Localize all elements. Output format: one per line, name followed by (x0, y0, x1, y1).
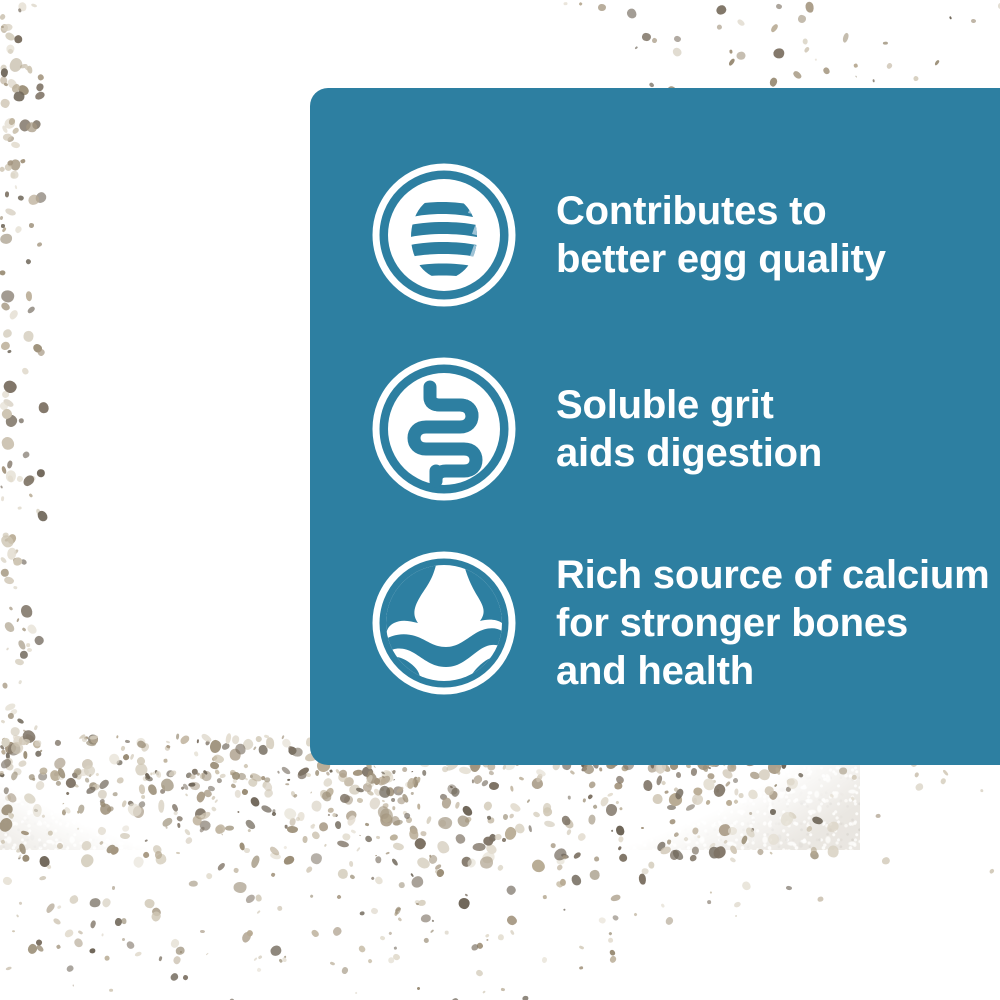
grit-speck (872, 79, 874, 83)
grit-speck (422, 769, 427, 776)
benefit-row-calcium: Rich source of calcium for stronger bone… (310, 526, 1000, 720)
benefit-label-egg-quality: Contributes to better egg quality (556, 187, 886, 283)
grit-speck (4, 192, 9, 198)
grit-speck (244, 892, 257, 904)
grit-speck (310, 853, 322, 864)
grit-speck (664, 915, 674, 925)
grit-speck (310, 791, 312, 793)
grit-speck (411, 791, 414, 794)
grit-speck (72, 984, 74, 986)
grit-speck (158, 956, 162, 961)
grit-speck (309, 894, 313, 898)
grit-speck (252, 957, 257, 962)
grit-speck (394, 906, 402, 915)
grit-speck (79, 852, 96, 869)
grit-speck (421, 914, 432, 924)
grit-speck (104, 955, 110, 961)
grit-speck (16, 915, 19, 919)
grit-speck (530, 857, 547, 874)
grit-speck (286, 826, 297, 833)
grit-speck (112, 885, 116, 889)
product-feature-image: Contributes to better egg quality Solubl… (0, 0, 1000, 1000)
grit-speck (237, 772, 246, 780)
grit-speck (66, 965, 75, 973)
grit-speck (255, 895, 262, 903)
grit-speck (374, 875, 384, 885)
grit-speck (35, 944, 45, 953)
grit-speck (563, 856, 568, 860)
grit-speck (914, 782, 924, 792)
grit-speck (710, 891, 712, 894)
grit-speck (942, 769, 949, 776)
grit-speck (542, 956, 548, 963)
grit-speck (692, 847, 699, 855)
grit-speck (48, 830, 53, 835)
grit-speck (376, 857, 382, 864)
grit-speck (597, 4, 605, 11)
grit-speck (21, 854, 31, 863)
grit-speck (949, 16, 952, 20)
grit-speck (150, 773, 152, 776)
grit-speck (505, 884, 517, 896)
grit-speck (26, 122, 37, 132)
grit-speck (250, 854, 261, 868)
grit-speck (188, 782, 196, 786)
grit-speck (125, 940, 136, 951)
grit-speck (265, 777, 271, 782)
grit-speck (734, 901, 742, 908)
grit-speck (355, 991, 358, 994)
grit-speck (119, 832, 129, 839)
grit-speck (775, 3, 782, 9)
grit-speck (285, 783, 289, 785)
grit-speck (810, 847, 816, 855)
grit-speck (410, 872, 414, 877)
grit-speck (706, 900, 711, 905)
grit-speck (1, 224, 5, 228)
grit-speck (730, 857, 737, 863)
grit-speck (607, 938, 613, 944)
grit-speck (648, 861, 655, 868)
grit-speck (305, 865, 313, 873)
benefit-label-calcium: Rich source of calcium for stronger bone… (556, 551, 990, 695)
grit-speck (735, 914, 738, 917)
grit-speck (256, 910, 260, 914)
grit-speck (639, 874, 647, 886)
grit-speck (182, 974, 188, 981)
grit-speck (611, 894, 622, 902)
grit-speck (90, 920, 97, 929)
grit-speck (498, 933, 504, 939)
grit-speck (336, 894, 342, 900)
grit-speck (101, 933, 103, 936)
grit-speck (688, 854, 697, 863)
grit-speck (570, 873, 583, 887)
grit-speck (349, 861, 354, 868)
grit-speck (475, 968, 484, 976)
grit-speck (693, 787, 702, 795)
grit-speck (594, 856, 600, 862)
grit-speck (912, 75, 919, 82)
grit-speck (378, 785, 390, 798)
bone-joint-icon (368, 547, 520, 699)
grit-speck (189, 881, 198, 887)
grit-speck (598, 917, 606, 925)
grit-speck (23, 331, 34, 342)
grit-speck (641, 32, 651, 41)
grit-speck (89, 897, 101, 908)
grit-speck (77, 810, 79, 813)
grit-speck (310, 929, 320, 939)
grit-speck (652, 794, 663, 805)
grit-speck (391, 858, 399, 867)
grit-speck (397, 917, 402, 922)
grit-speck (367, 958, 373, 964)
grit-speck (205, 871, 213, 879)
grit-speck (589, 869, 601, 881)
grit-speck (728, 826, 737, 834)
benefit-row-digestion: Soluble grit aids digestion (310, 332, 1000, 526)
grit-speck (563, 909, 565, 911)
grit-speck (276, 906, 283, 913)
grit-speck (154, 851, 161, 859)
grit-speck (244, 847, 250, 853)
grit-speck (484, 933, 489, 938)
grit-speck (608, 931, 612, 935)
grit-speck (341, 967, 349, 975)
grit-speck (738, 792, 744, 798)
grit-speck (660, 903, 664, 907)
grit-speck (980, 789, 984, 793)
grit-speck (258, 955, 263, 960)
grit-speck (18, 901, 22, 905)
grit-speck (608, 955, 617, 964)
grit-speck (940, 777, 947, 785)
grit-speck (444, 930, 448, 934)
grit-speck (770, 852, 774, 855)
benefits-panel: Contributes to better egg quality Solubl… (310, 88, 1000, 765)
grit-speck (0, 770, 4, 774)
grit-speck (786, 886, 792, 891)
grit-speck (23, 739, 30, 744)
grit-speck (7, 48, 14, 54)
grit-speck (612, 914, 619, 921)
grit-speck (971, 19, 976, 24)
grit-speck (268, 944, 282, 958)
grit-speck (172, 955, 181, 965)
grit-speck (500, 988, 504, 991)
grit-speck (749, 811, 753, 815)
grit-speck (56, 944, 61, 949)
grit-speck (398, 881, 405, 888)
grit-speck (386, 956, 394, 964)
grit-speck (12, 930, 15, 932)
grit-speck (234, 867, 239, 872)
grit-speck (132, 856, 145, 869)
grit-speck (914, 772, 920, 778)
grit-speck (176, 852, 180, 855)
grit-speck (633, 913, 637, 917)
grit-speck (510, 930, 515, 935)
grit-speck (330, 961, 335, 965)
grit-speck (46, 864, 51, 869)
grit-speck (381, 775, 385, 778)
grit-speck (216, 861, 226, 871)
grit-speck (1, 68, 9, 77)
grit-speck (437, 816, 452, 829)
grit-speck (485, 938, 488, 940)
grit-speck (988, 868, 995, 875)
grit-speck (881, 856, 891, 865)
grit-speck (579, 945, 585, 950)
grit-speck (57, 905, 62, 910)
grit-speck (817, 897, 824, 903)
grit-speck (0, 270, 6, 275)
grit-speck (641, 827, 644, 829)
grit-speck (573, 851, 583, 860)
grit-speck (416, 986, 420, 990)
grit-speck (883, 42, 888, 45)
grit-speck (175, 946, 186, 956)
grit-speck (386, 851, 390, 854)
grit-speck (875, 813, 880, 817)
grit-speck (359, 910, 365, 915)
grit-speck (17, 506, 21, 509)
grit-speck (432, 919, 435, 922)
grit-speck (934, 59, 940, 66)
grit-speck (389, 931, 393, 935)
grit-speck (886, 62, 893, 70)
grit-speck (63, 928, 74, 938)
grit-speck (281, 854, 295, 867)
grit-speck (295, 816, 300, 821)
grit-speck (370, 908, 378, 915)
grit-speck (394, 946, 397, 950)
grit-speck (337, 867, 350, 880)
grit-speck (6, 966, 12, 971)
grit-speck (200, 930, 205, 933)
grit-speck (109, 989, 113, 992)
grit-speck (415, 902, 418, 904)
grit-speck (122, 918, 127, 925)
grit-speck (741, 880, 753, 892)
grit-speck (423, 937, 429, 943)
grit-speck (135, 951, 143, 957)
grit-speck (89, 947, 96, 954)
grit-speck (550, 843, 555, 848)
grit-speck (828, 846, 839, 858)
grit-speck (315, 770, 319, 776)
grit-speck (266, 744, 269, 748)
grit-speck (0, 719, 4, 723)
benefit-row-egg-quality: Contributes to better egg quality (310, 138, 1000, 332)
grit-speck (121, 938, 125, 942)
grit-speck (379, 936, 385, 942)
grit-speck (44, 902, 56, 914)
grit-speck (256, 967, 262, 973)
grit-speck (101, 897, 112, 909)
intestine-icon (368, 353, 520, 505)
grit-speck (234, 882, 247, 893)
grit-speck (270, 872, 275, 877)
grit-speck (5, 470, 16, 482)
grit-speck (331, 925, 343, 937)
grit-speck (505, 914, 518, 927)
grit-speck (417, 803, 420, 809)
grit-speck (170, 972, 180, 982)
grit-speck (465, 894, 468, 897)
grit-speck (357, 945, 366, 954)
benefit-label-digestion: Soluble grit aids digestion (556, 381, 822, 477)
grit-speck (579, 965, 584, 969)
grit-speck (560, 879, 566, 886)
egg-icon (368, 159, 520, 311)
grit-speck (2, 876, 13, 886)
grit-speck (617, 852, 628, 863)
grit-speck (770, 809, 776, 815)
grit-speck (73, 936, 85, 948)
grit-speck (206, 952, 209, 955)
grit-speck (483, 836, 493, 845)
grit-speck (68, 893, 80, 905)
grit-speck (429, 929, 433, 933)
grit-speck (483, 990, 486, 993)
grit-speck (497, 864, 505, 872)
grit-speck (53, 917, 63, 926)
grit-speck (350, 874, 356, 880)
grit-speck (543, 894, 548, 899)
grit-speck (77, 930, 83, 935)
grit-speck (458, 897, 471, 909)
grit-speck (39, 875, 47, 881)
grit-speck (521, 995, 528, 1000)
